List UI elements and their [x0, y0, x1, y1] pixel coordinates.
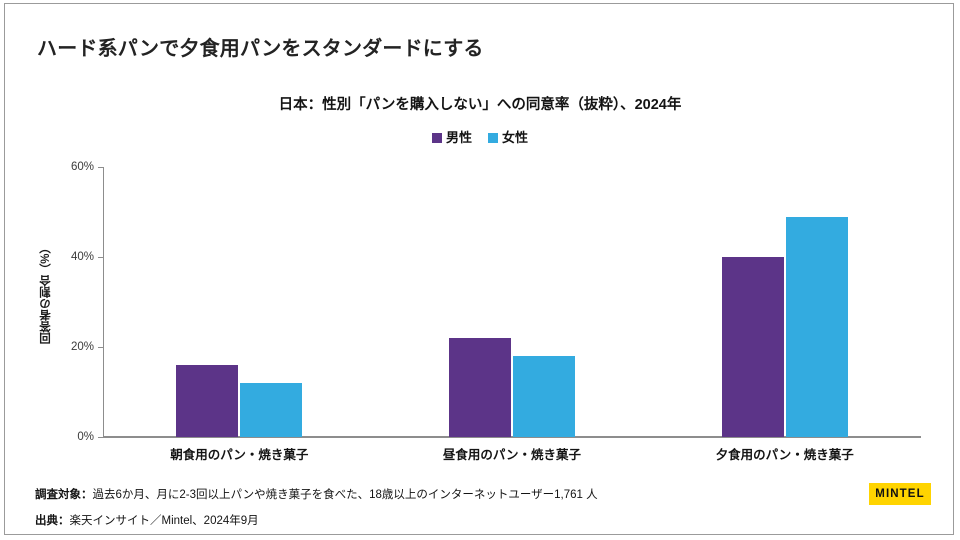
bar-女性-夕食用のパン・焼き菓子 — [786, 217, 848, 438]
page-title: ハード系パンで夕食用パンをスタンダードにする — [37, 32, 484, 61]
legend-item-female[interactable]: 女性 — [488, 131, 528, 144]
chart-subtitle: 日本：性別「パンを購入しない」への同意率（抜粋）、2024年 — [5, 93, 955, 114]
legend-label-male: 男性 — [446, 131, 472, 144]
mintel-logo-text: MINTEL — [875, 488, 924, 500]
y-tick-label: 60% — [71, 161, 94, 173]
y-tick-mark — [98, 257, 103, 258]
footnote: 調査対象：過去6か月、月に2-3回以上パンや焼き菓子を食べた、18歳以上のインタ… — [35, 486, 598, 502]
chart-legend: 男性 女性 — [5, 131, 955, 144]
legend-swatch-female — [488, 133, 498, 143]
y-tick-mark — [98, 437, 103, 438]
footnote-text: 過去6か月、月に2-3回以上パンや焼き菓子を食べた、18歳以上のインターネットユ… — [93, 489, 598, 501]
y-tick-mark — [98, 347, 103, 348]
x-axis-category-label: 朝食用のパン・焼き菓子 — [170, 444, 308, 463]
footnote-lead: 調査対象： — [35, 489, 93, 501]
y-axis-title: 回答者の割合（%） — [38, 242, 54, 344]
bar-男性-夕食用のパン・焼き菓子 — [722, 257, 784, 437]
bar-男性-昼食用のパン・焼き菓子 — [449, 338, 511, 437]
plot-area: 0%20%40%60% 朝食用のパン・焼き菓子昼食用のパン・焼き菓子夕食用のパン… — [103, 167, 921, 437]
mintel-logo: MINTEL — [869, 483, 931, 505]
y-tick-mark — [98, 167, 103, 168]
x-axis-category-label: 昼食用のパン・焼き菓子 — [443, 444, 581, 463]
y-tick-label: 0% — [77, 431, 94, 443]
source-text: 楽天インサイト／Mintel、2024年9月 — [70, 515, 259, 527]
legend-label-female: 女性 — [502, 131, 528, 144]
source-lead: 出典： — [35, 515, 70, 527]
chart-card: ハード系パンで夕食用パンをスタンダードにする 日本：性別「パンを購入しない」への… — [4, 3, 954, 535]
source-line: 出典：楽天インサイト／Mintel、2024年9月 — [35, 512, 259, 528]
y-tick-label: 40% — [71, 251, 94, 263]
x-axis-category-label: 夕食用のパン・焼き菓子 — [716, 444, 854, 463]
bar-女性-朝食用のパン・焼き菓子 — [240, 383, 302, 437]
bar-女性-昼食用のパン・焼き菓子 — [513, 356, 575, 437]
y-axis-line — [103, 167, 104, 437]
y-tick-label: 20% — [71, 341, 94, 353]
bar-男性-朝食用のパン・焼き菓子 — [176, 365, 238, 437]
legend-item-male[interactable]: 男性 — [432, 131, 472, 144]
legend-swatch-male — [432, 133, 442, 143]
